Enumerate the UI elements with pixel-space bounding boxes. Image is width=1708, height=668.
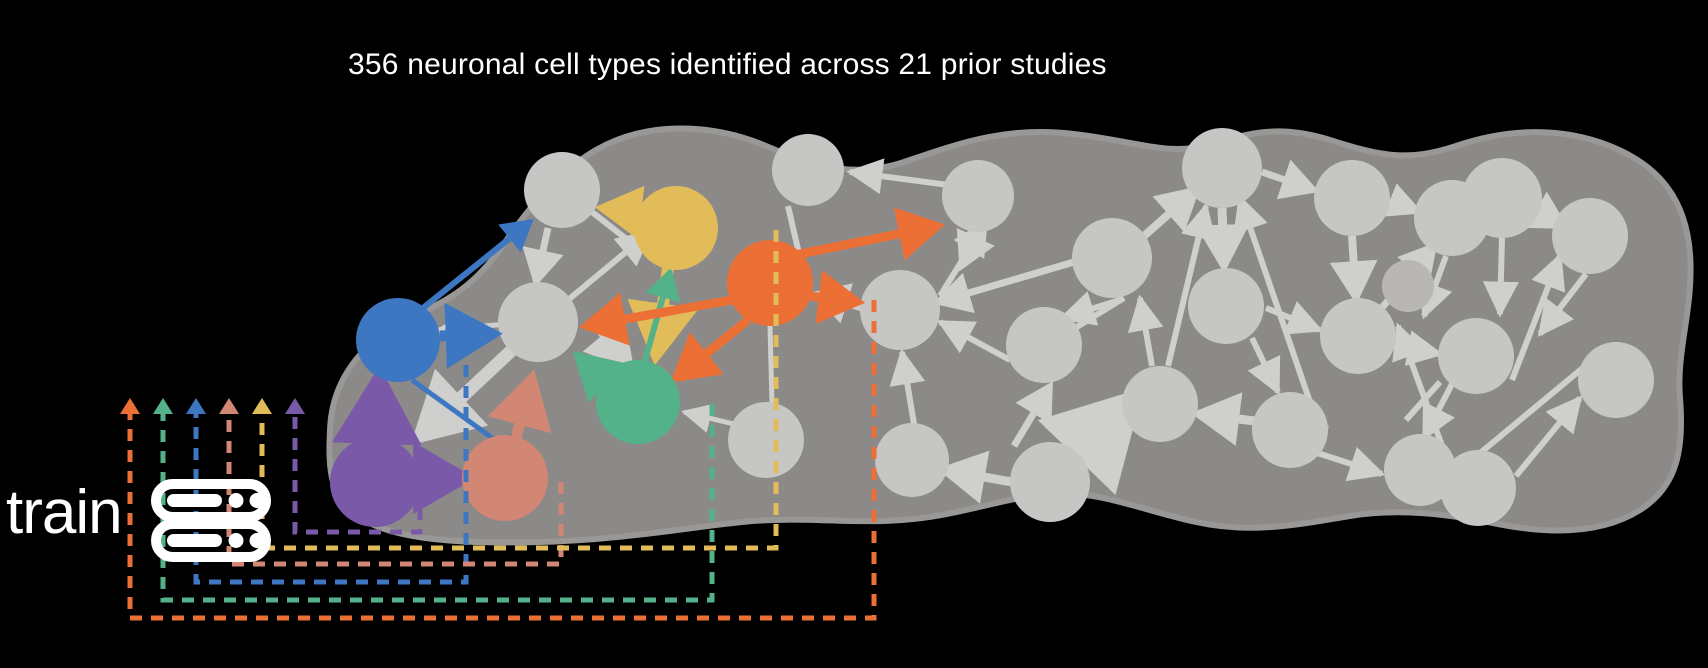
- gold-feedback-arrowhead: [252, 398, 272, 414]
- gray-node: [728, 402, 804, 478]
- gray-node: [1188, 268, 1264, 344]
- gray-node: [1072, 218, 1152, 298]
- orange-node: [727, 240, 813, 326]
- salmon-node: [462, 435, 548, 521]
- orange-edge-right: [810, 296, 858, 302]
- salmon-feedback-arrowhead: [219, 398, 239, 414]
- neuron-network-diagram: [0, 0, 1708, 668]
- purple-node: [330, 437, 420, 527]
- gray-node: [1320, 298, 1396, 374]
- gray-node: [1552, 198, 1628, 274]
- green-node: [596, 360, 680, 444]
- blue-feedback-arrowhead: [186, 398, 206, 414]
- server-stack-icon: [156, 484, 266, 557]
- gray-node: [1578, 342, 1654, 418]
- blue-edge-right: [440, 334, 494, 336]
- gray-node: [1462, 158, 1542, 238]
- gray-node: [1122, 366, 1198, 442]
- blue-node: [356, 298, 440, 382]
- gray-node: [1314, 160, 1390, 236]
- gray-node: [498, 282, 578, 362]
- orange-feedback-arrowhead: [120, 398, 140, 414]
- purple-feedback-arrowhead: [285, 398, 305, 414]
- gray-node: [942, 160, 1014, 232]
- gold-node: [634, 186, 718, 270]
- gray-node: [1438, 318, 1514, 394]
- slide-canvas: 356 neuronal cell types identified acros…: [0, 0, 1708, 668]
- gray-node: [1440, 450, 1516, 526]
- gray-node: [1182, 128, 1262, 208]
- gold-edge-left: [602, 208, 636, 212]
- gray-node: [772, 134, 844, 206]
- gray-node: [1252, 392, 1328, 468]
- gray-node: [524, 152, 600, 228]
- gray-node: [1006, 307, 1082, 383]
- train-label: train: [6, 482, 122, 544]
- gray-node: [875, 423, 949, 497]
- gray-node: [1010, 442, 1090, 522]
- green-feedback-arrowhead: [153, 398, 173, 414]
- purple-edge-up: [377, 378, 379, 438]
- gray-node: [1382, 260, 1434, 312]
